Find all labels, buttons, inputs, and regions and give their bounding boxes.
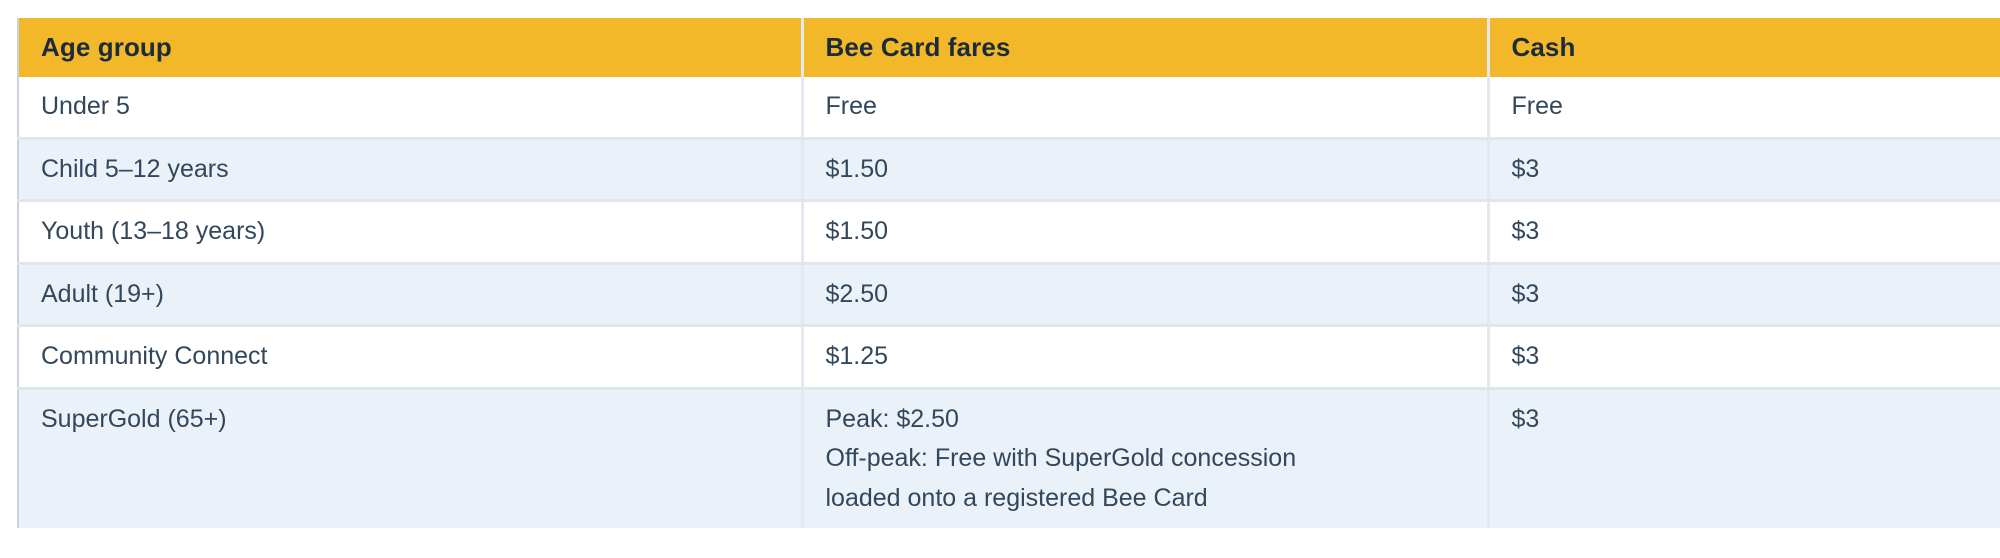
table-row: Community Connect $1.25 $3: [18, 326, 2000, 389]
cell-bee-card: $1.50: [802, 138, 1488, 201]
table-row: Child 5–12 years $1.50 $3: [18, 138, 2000, 201]
table-row: SuperGold (65+) Peak: $2.50 Off-peak: Fr…: [18, 388, 2000, 528]
cell-age-group: Child 5–12 years: [18, 138, 802, 201]
cell-cash: $3: [1488, 201, 2000, 264]
cell-age-group: Youth (13–18 years): [18, 201, 802, 264]
cell-bee-card: Free: [802, 77, 1488, 138]
page-root: Age group Bee Card fares Cash Under 5 Fr…: [0, 0, 2000, 558]
cell-bee-card-line: $1.25: [826, 339, 1487, 375]
cell-cash: Free: [1488, 77, 2000, 138]
cell-cash: $3: [1488, 263, 2000, 326]
cell-bee-card: Peak: $2.50 Off-peak: Free with SuperGol…: [802, 388, 1488, 528]
column-header-cash: Cash: [1488, 18, 2000, 77]
cell-age-group: Under 5: [18, 77, 802, 138]
table-row: Adult (19+) $2.50 $3: [18, 263, 2000, 326]
cell-cash: $3: [1488, 388, 2000, 528]
cell-bee-card-line: Free: [826, 89, 1487, 125]
cell-age-group: Adult (19+): [18, 263, 802, 326]
cell-bee-card-line: $1.50: [826, 152, 1487, 188]
cell-bee-card: $2.50: [802, 263, 1488, 326]
cell-bee-card: $1.50: [802, 201, 1488, 264]
cell-bee-card-line: $1.50: [826, 214, 1487, 250]
table-row: Under 5 Free Free: [18, 77, 2000, 138]
cell-bee-card-line: Peak: $2.50: [826, 402, 1487, 438]
cell-bee-card-line: loaded onto a registered Bee Card: [826, 481, 1487, 517]
table-body: Under 5 Free Free Child 5–12 years $1.50…: [18, 77, 2000, 528]
cell-cash: $3: [1488, 326, 2000, 389]
column-header-bee-card: Bee Card fares: [802, 18, 1488, 77]
cell-bee-card-line: $2.50: [826, 277, 1487, 313]
fares-table: Age group Bee Card fares Cash Under 5 Fr…: [17, 18, 2000, 528]
column-header-age-group: Age group: [18, 18, 802, 77]
table-header-row: Age group Bee Card fares Cash: [18, 18, 2000, 77]
cell-age-group: Community Connect: [18, 326, 802, 389]
table-header: Age group Bee Card fares Cash: [18, 18, 2000, 77]
fares-table-container: Age group Bee Card fares Cash Under 5 Fr…: [17, 18, 2000, 546]
cell-bee-card-line: Off-peak: Free with SuperGold concession: [826, 441, 1487, 477]
cell-bee-card: $1.25: [802, 326, 1488, 389]
cell-age-group: SuperGold (65+): [18, 388, 802, 528]
cell-cash: $3: [1488, 138, 2000, 201]
table-row: Youth (13–18 years) $1.50 $3: [18, 201, 2000, 264]
